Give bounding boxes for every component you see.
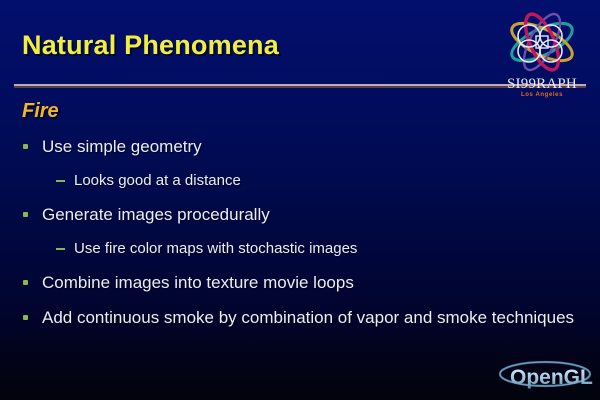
list-item-label: Use fire color maps with stochastic imag… <box>74 239 586 258</box>
siggraph-city-label: Los Angeles <box>490 92 594 98</box>
opengl-logo: OpenGL . <box>496 358 594 392</box>
opengl-logo-icon: OpenGL . <box>496 358 594 392</box>
section-title: Fire <box>22 100 59 123</box>
list-item-label: Combine images into texture movie loops <box>42 272 586 293</box>
list-item-label: Use simple geometry <box>42 136 586 157</box>
list-item: Add continuous smoke by combination of v… <box>20 307 586 328</box>
list-item: Combine images into texture movie loops <box>20 272 586 293</box>
list-item: Use simple geometry <box>20 136 586 157</box>
svg-text:OpenGL: OpenGL <box>510 366 593 389</box>
page-title: Natural Phenomena <box>22 30 279 61</box>
bullet-list: Use simple geometry Looks good at a dist… <box>20 136 586 342</box>
square-bullet-icon <box>23 315 28 320</box>
square-bullet-icon <box>23 280 28 285</box>
list-item: Use fire color maps with stochastic imag… <box>20 239 586 258</box>
siggraph-rings-icon <box>498 6 586 78</box>
siggraph-wordmark: SI99RAPH <box>490 76 594 93</box>
list-item-label: Generate images procedurally <box>42 204 586 225</box>
svg-text:.: . <box>586 376 589 387</box>
siggraph-logo: SI99RAPH Los Angeles <box>490 6 594 102</box>
dash-bullet-icon <box>56 248 65 250</box>
list-item-label: Add continuous smoke by combination of v… <box>42 307 586 328</box>
list-item: Generate images procedurally <box>20 204 586 225</box>
presentation-slide: Natural Phenomena Fire Use simple geomet… <box>0 0 600 400</box>
dash-bullet-icon <box>56 180 65 182</box>
square-bullet-icon <box>23 144 28 149</box>
square-bullet-icon <box>23 212 28 217</box>
list-item-label: Looks good at a distance <box>74 171 586 190</box>
list-item: Looks good at a distance <box>20 171 586 190</box>
